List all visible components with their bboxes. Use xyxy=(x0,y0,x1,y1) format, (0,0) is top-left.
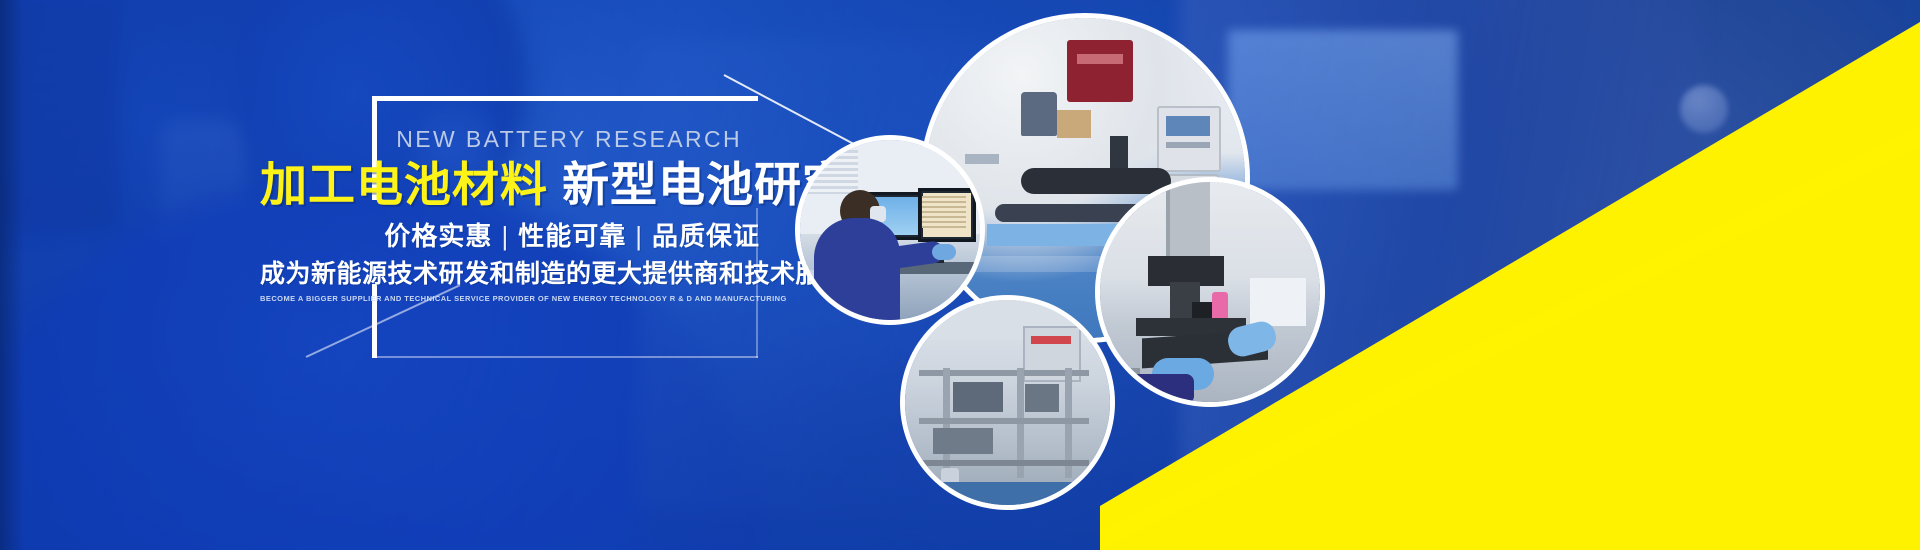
photo-circle-press-gloved-hands xyxy=(1100,182,1320,402)
left-edge-shadow xyxy=(0,0,24,550)
line-equipment-box-3 xyxy=(933,428,993,454)
operator-body xyxy=(814,218,900,320)
tagline: 成为新能源技术研发和制造的更大提供商和技术服务商 xyxy=(260,259,760,289)
page-title: 加工电池材料 新型电池研究 xyxy=(260,159,760,211)
feature-item-quality: 品质保证 xyxy=(652,221,760,251)
eyebrow-label: NEW BATTERY RESEARCH xyxy=(260,128,760,151)
machine-control-panel-upper xyxy=(1157,106,1221,172)
feature-separator-1: | xyxy=(492,221,518,252)
photo-circle-production-line xyxy=(905,300,1110,505)
photo-circle-operator-workstation xyxy=(800,140,980,320)
machine-waste-bin xyxy=(1021,92,1057,136)
machine-red-cabinet xyxy=(1067,40,1133,102)
line-blue-floor xyxy=(905,482,1110,505)
hero-banner: NEW BATTERY RESEARCH 加工电池材料 新型电池研究 价格实惠|… xyxy=(0,0,1920,550)
press-column xyxy=(1166,182,1210,262)
line-equipment-box-1 xyxy=(953,382,1003,412)
operator-monitor-right-rows xyxy=(922,196,966,228)
line-equipment-box-2 xyxy=(1025,384,1059,412)
operator-window-blinds xyxy=(806,150,858,194)
feature-separator-2: | xyxy=(626,221,652,252)
headline-highlight: 加工电池材料 xyxy=(260,158,548,211)
press-white-enclosure xyxy=(1250,278,1306,326)
feature-list: 价格实惠|性能可靠|品质保证 xyxy=(260,221,760,252)
line-frame-rail-bottom xyxy=(919,460,1089,466)
headline-text-block: NEW BATTERY RESEARCH 加工电池材料 新型电池研究 价格实惠|… xyxy=(260,128,760,303)
feature-item-price: 价格实惠 xyxy=(384,221,492,251)
micro-caption: BECOME A BIGGER SUPPLIER AND TECHNICAL S… xyxy=(260,294,760,303)
feature-item-performance: 性能可靠 xyxy=(518,221,626,251)
machine-carton xyxy=(1057,110,1091,138)
press-uniform-sleeve xyxy=(1128,374,1194,402)
operator-blue-glove xyxy=(932,244,956,260)
line-frame-rail-middle xyxy=(919,418,1089,424)
